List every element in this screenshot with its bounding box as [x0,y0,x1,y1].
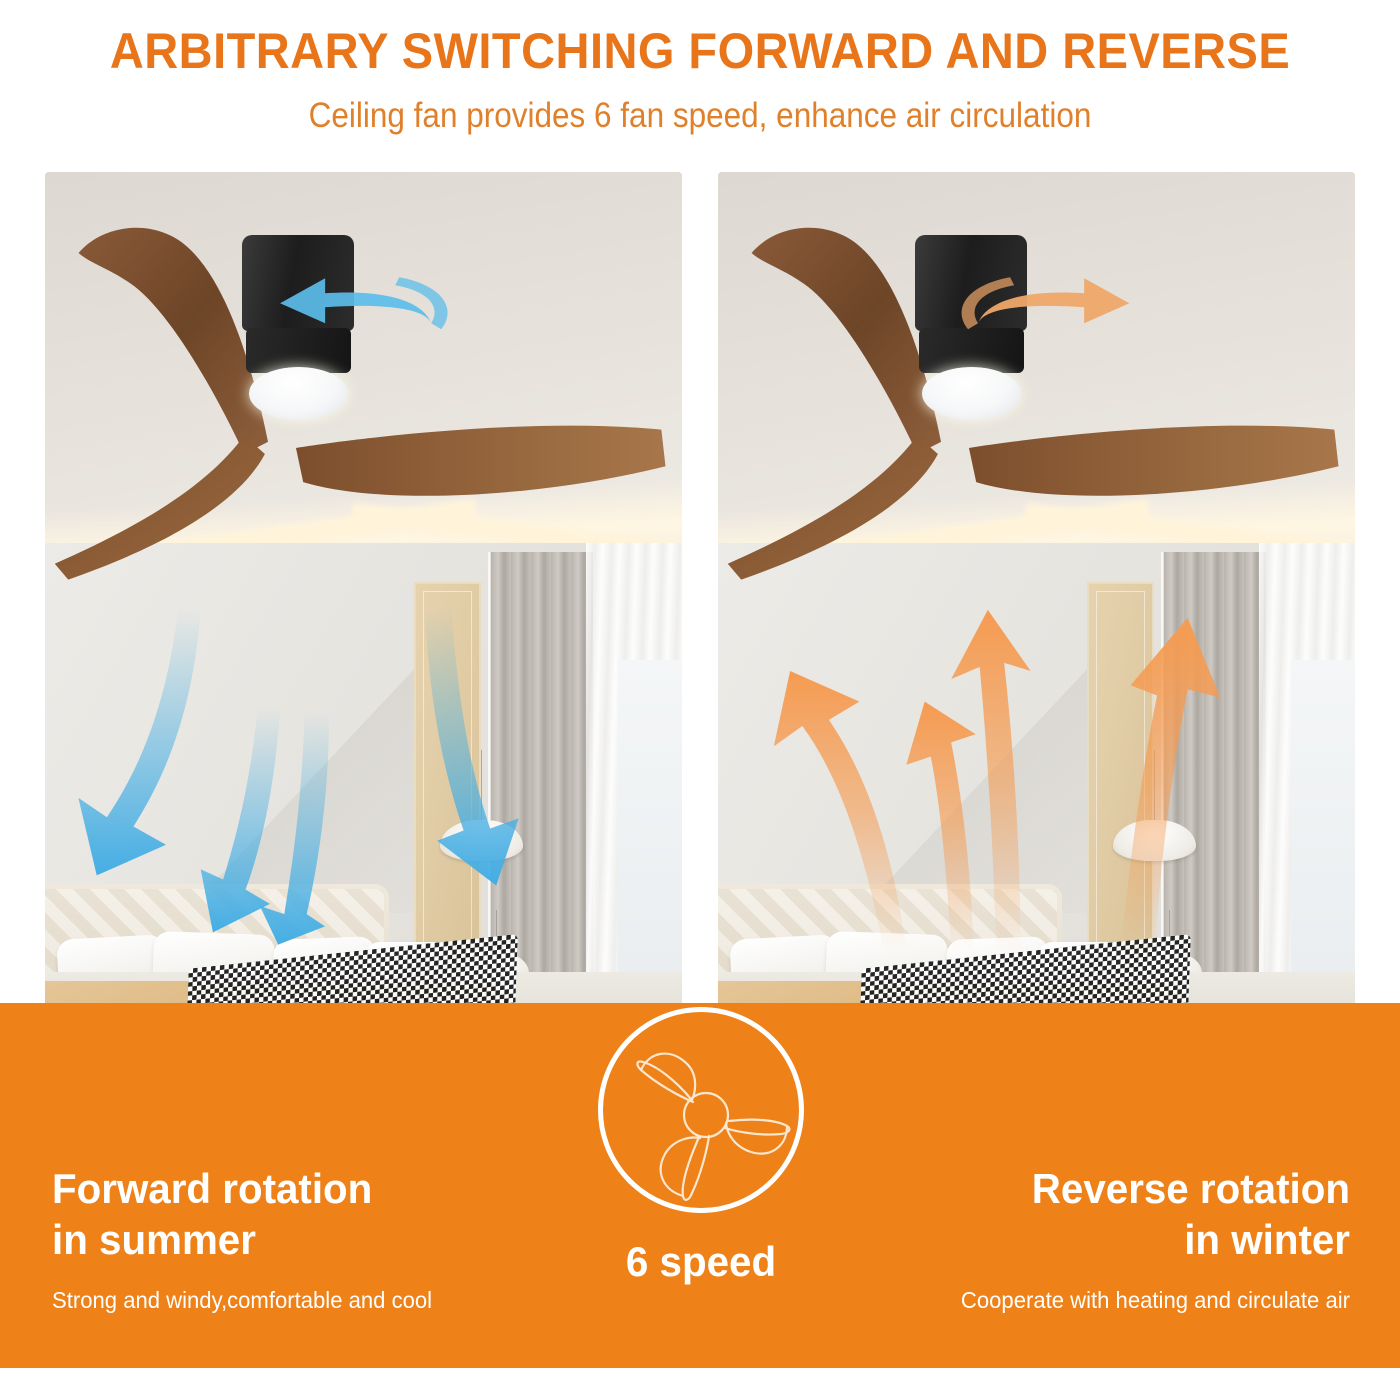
rotation-arrow-blue [185,240,465,377]
speed-label: 6 speed [566,1238,837,1286]
bedroom-scene-reverse [718,172,1355,1147]
fan-blade-icon [613,1022,799,1208]
speed-badge [598,1007,804,1213]
bedroom-scene-forward [45,172,682,1147]
airflow-arrows-up [731,504,1343,1050]
page-title: ARBITRARY SWITCHING FORWARD AND REVERSE [42,22,1358,80]
airflow-arrow-2 [200,706,279,932]
caption-forward: Forward rotation in summer Strong and wi… [52,1163,612,1314]
caption-reverse: Reverse rotation in winter Cooperate wit… [790,1163,1350,1314]
airflow-arrow-2 [906,701,975,950]
photo-panel-reverse [718,172,1355,1147]
caption-reverse-subtitle: Cooperate with heating and circulate air [812,1287,1350,1314]
rotation-arrow-orange [884,240,1164,377]
fan-blade-right [296,425,666,495]
caption-reverse-title: Reverse rotation in winter [812,1163,1350,1265]
airflow-arrow-4 [425,608,519,885]
airflow-arrows-down [58,523,670,1030]
caption-forward-title: Forward rotation in summer [52,1163,590,1265]
product-feature-page: ARBITRARY SWITCHING FORWARD AND REVERSE … [0,0,1400,1400]
airflow-arrow-1 [78,608,200,875]
fan-blade-right [969,425,1339,495]
caption-forward-subtitle: Strong and windy,comfortable and cool [52,1287,590,1314]
page-subtitle: Ceiling fan provides 6 fan speed, enhanc… [70,96,1330,136]
photo-panel-forward [45,172,682,1147]
airflow-arrow-1 [774,671,906,950]
airflow-arrow-4 [1120,618,1220,950]
